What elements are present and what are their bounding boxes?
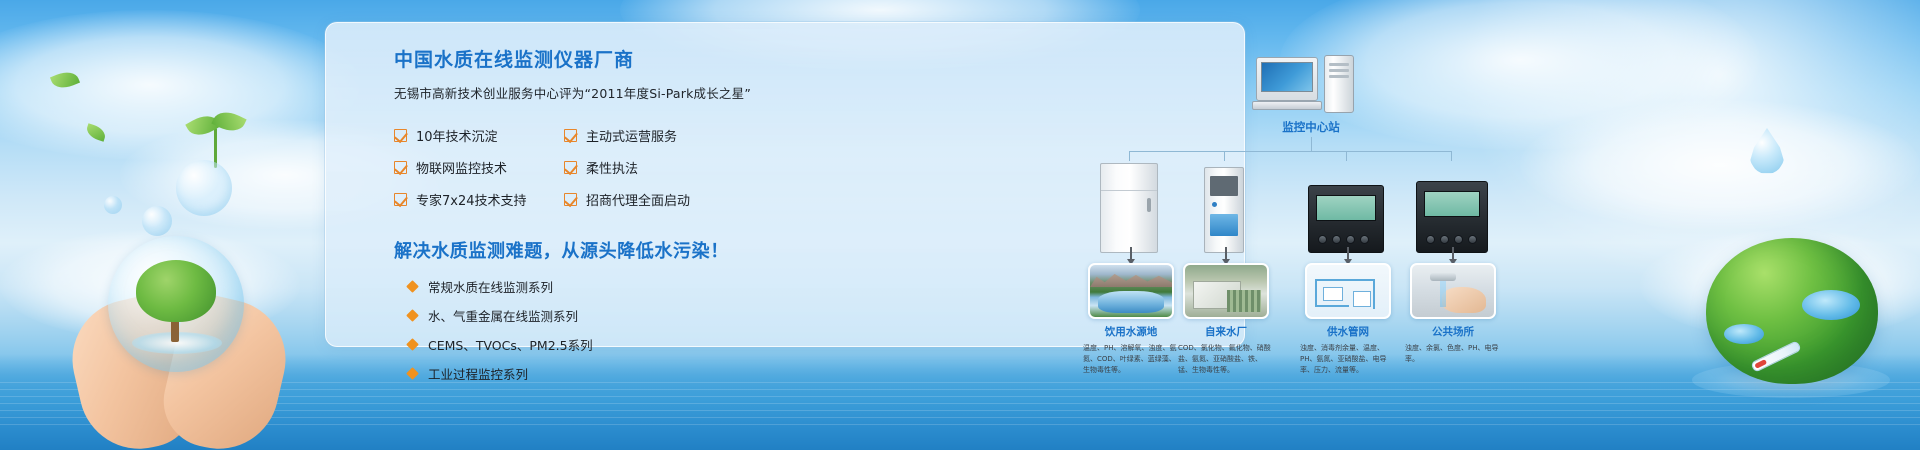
feature-label: 物联网监控技术 (416, 158, 507, 177)
scenario-title: 饮用水源地 (1088, 324, 1174, 339)
bubble-decoration (176, 160, 232, 216)
system-architecture-diagram: 监控中心站 (1086, 45, 1536, 445)
content-card: 中国水质在线监测仪器厂商 无锡市高新技术创业服务中心评为“2011年度Si-Pa… (325, 22, 1245, 347)
scenario-title: 供水管网 (1305, 324, 1391, 339)
device-controller-icon (1308, 185, 1384, 253)
device-analyzer-icon (1204, 167, 1244, 253)
pc-tower-icon (1324, 55, 1354, 113)
globe-lake (1724, 324, 1764, 344)
scenario-cell: 供水管网 浊度、消毒剂余量、温度、PH、氨氮、亚硝酸盐、电导率、压力、流量等。 (1305, 263, 1391, 376)
leaf-decoration (50, 68, 80, 93)
feature-label: 招商代理全面启动 (586, 190, 690, 209)
list-item-label: 工业过程监控系列 (428, 364, 528, 383)
feature-item: 柔性执法 (564, 158, 734, 177)
list-item-label: 水、气重金属在线监测系列 (428, 306, 578, 325)
feature-label: 专家7x24技术支持 (416, 190, 527, 209)
scenario-thumbnail-public-place (1410, 263, 1496, 319)
feature-item: 物联网监控技术 (394, 158, 564, 177)
diamond-bullet-icon (406, 280, 419, 293)
checkbox-checked-icon (564, 193, 577, 206)
section-title: 解决水质监测难题，从源头降低水污染！ (394, 237, 744, 263)
leaf-decoration (84, 123, 107, 142)
scenario-description: 温度、PH、溶解氧、浊度、氨氮、COD、叶绿素、蓝绿藻、生物毒性等。 (1083, 343, 1179, 376)
monitor-screen (1261, 62, 1313, 92)
bubble-decoration (104, 196, 122, 214)
device-cabinet-icon (1100, 163, 1158, 253)
feature-item: 10年技术沉淀 (394, 126, 564, 145)
sea-band (0, 354, 1920, 450)
water-droplet-icon (1750, 128, 1784, 174)
feature-label: 主动式运营服务 (586, 126, 677, 145)
device-row (1086, 153, 1536, 253)
washing-hands-illustration (1442, 287, 1486, 313)
monitor-icon (1256, 57, 1318, 101)
list-item-label: CEMS、TVOCs、PM2.5系列 (428, 335, 593, 354)
feature-item: 招商代理全面启动 (564, 190, 734, 209)
feature-item: 主动式运营服务 (564, 126, 734, 145)
feature-label: 10年技术沉淀 (416, 126, 498, 145)
scenario-thumbnail-water-supply-network (1305, 263, 1391, 319)
monitoring-center-computer-icon (1256, 57, 1366, 119)
left-text-column: 中国水质在线监测仪器厂商 无锡市高新技术创业服务中心评为“2011年度Si-Pa… (394, 45, 744, 383)
scenario-title: 自来水厂 (1183, 324, 1269, 339)
list-item-label: 常规水质在线监测系列 (428, 277, 553, 296)
green-globe-illustration (1706, 238, 1878, 384)
feature-checklist: 10年技术沉淀 主动式运营服务 物联网监控技术 柔性执法 专家7x24技术支持 … (394, 126, 744, 209)
page-subtitle: 无锡市高新技术创业服务中心评为“2011年度Si-Park成长之星” (394, 83, 744, 102)
connector-line (1129, 151, 1451, 152)
list-item: 工业过程监控系列 (394, 364, 744, 383)
scenario-description: 浊度、消毒剂余量、温度、PH、氨氮、亚硝酸盐、电导率、压力、流量等。 (1300, 343, 1396, 376)
globe-lake (1802, 290, 1860, 320)
checkbox-checked-icon (564, 129, 577, 142)
cloud-decoration (1520, 100, 1920, 230)
checkbox-checked-icon (394, 129, 407, 142)
scenario-description: 浊度、余氯、色度、PH、电导率。 (1405, 343, 1501, 365)
list-item: 常规水质在线监测系列 (394, 277, 744, 296)
feature-label: 柔性执法 (586, 158, 638, 177)
diamond-bullet-icon (406, 338, 419, 351)
feature-item: 专家7x24技术支持 (394, 190, 564, 209)
hands-holding-tree-illustration (74, 220, 284, 450)
keyboard-icon (1252, 101, 1322, 110)
scenario-thumbnail-waterworks (1183, 263, 1269, 319)
list-item: CEMS、TVOCs、PM2.5系列 (394, 335, 744, 354)
checkbox-checked-icon (394, 193, 407, 206)
scenario-title: 公共场所 (1410, 324, 1496, 339)
scenario-cell: 自来水厂 COD、氯化物、氟化物、硝酸盐、氨氮、亚硝酸盐、铁、锰、生物毒性等。 (1183, 263, 1269, 376)
scenario-description: COD、氯化物、氟化物、硝酸盐、氨氮、亚硝酸盐、铁、锰、生物毒性等。 (1178, 343, 1274, 376)
scenario-thumbnail-drinking-water-source (1088, 263, 1174, 319)
connector-line (1311, 137, 1312, 151)
center-station-label: 监控中心站 (1236, 119, 1386, 135)
device-controller-icon (1416, 181, 1488, 253)
diamond-bullet-icon (406, 367, 419, 380)
tree-crown (136, 260, 216, 322)
page-title: 中国水质在线监测仪器厂商 (394, 45, 744, 72)
checkbox-checked-icon (394, 161, 407, 174)
list-item: 水、气重金属在线监测系列 (394, 306, 744, 325)
product-series-list: 常规水质在线监测系列 水、气重金属在线监测系列 CEMS、TVOCs、PM2.5… (394, 277, 744, 383)
scenario-cell: 饮用水源地 温度、PH、溶解氧、浊度、氨氮、COD、叶绿素、蓝绿藻、生物毒性等。 (1088, 263, 1174, 376)
scenario-cell: 公共场所 浊度、余氯、色度、PH、电导率。 (1410, 263, 1496, 365)
checkbox-checked-icon (564, 161, 577, 174)
diamond-bullet-icon (406, 309, 419, 322)
